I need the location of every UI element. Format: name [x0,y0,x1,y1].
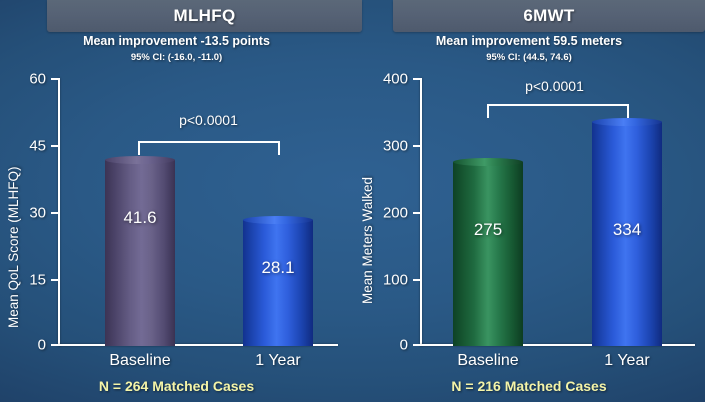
y-tick-6mwt-200 [413,212,420,214]
x-category-label-mlhfq-one-year: 1 Year [223,352,333,370]
p-value-label-6mwt: p<0.0001 [482,78,627,94]
y-tick-6mwt-100 [413,279,420,281]
plot-area-mlhfq: 60 45 30 15 0 Mean QoL Score (MLHFQ) p<0… [58,78,338,346]
slide-canvas: MLHFQ 6MWT Mean improvement -13.5 points… [0,0,705,402]
bar-cap-mlhfq-one-year [243,216,313,224]
y-tick-mlhfq-15 [51,279,58,281]
subtitle-mlhfq: Mean improvement -13.5 points [0,34,353,48]
y-axis-line-6mwt [420,78,422,346]
confidence-interval-6mwt: 95% CI: (44.5, 74.6) [353,52,705,63]
y-tick-label-mlhfq-60: 60 [14,71,46,88]
y-axis-line-mlhfq [58,78,60,346]
bar-fill-mlhfq-one-year [243,220,313,346]
y-tick-6mwt-300 [413,145,420,147]
subtitle-6mwt: Mean improvement 59.5 meters [353,34,705,48]
bar-6mwt-baseline[interactable]: 275 [453,162,523,346]
chart-panel-6mwt: Mean improvement 59.5 meters 95% CI: (44… [353,0,705,402]
chart-panel-mlhfq: Mean improvement -13.5 points 95% CI: (-… [0,0,353,402]
x-category-label-mlhfq-baseline: Baseline [80,352,200,370]
bar-mlhfq-baseline[interactable]: 41.6 [105,160,175,346]
y-tick-6mwt-0 [413,344,420,346]
y-tick-label-6mwt-400: 400 [368,71,408,88]
x-category-label-6mwt-baseline: Baseline [428,352,548,370]
y-tick-label-6mwt-0: 0 [368,337,408,354]
bar-fill-6mwt-baseline [453,162,523,346]
confidence-interval-mlhfq: 95% CI: (-16.0, -11.0) [0,52,353,63]
y-axis-title-6mwt: Mean Meters Walked [360,177,375,304]
y-tick-mlhfq-30 [51,212,58,214]
bar-value-mlhfq-baseline: 41.6 [105,208,175,228]
y-tick-6mwt-400 [413,78,420,80]
bar-cap-mlhfq-baseline [105,156,175,164]
bar-6mwt-one-year[interactable]: 334 [592,122,662,346]
bar-value-6mwt-one-year: 334 [592,220,662,240]
bar-mlhfq-one-year[interactable]: 28.1 [243,220,313,346]
y-tick-label-mlhfq-0: 0 [14,337,46,354]
y-tick-mlhfq-60 [51,78,58,80]
footnote-mlhfq: N = 264 Matched Cases [0,378,353,394]
y-tick-mlhfq-45 [51,145,58,147]
significance-bracket-6mwt [487,104,629,118]
y-tick-label-mlhfq-45: 45 [14,138,46,155]
p-value-label-mlhfq: p<0.0001 [136,112,281,128]
bar-fill-mlhfq-baseline [105,160,175,346]
y-tick-mlhfq-0 [51,344,58,346]
bar-value-mlhfq-one-year: 28.1 [243,258,313,278]
significance-bracket-mlhfq [138,141,280,155]
x-category-label-6mwt-one-year: 1 Year [572,352,682,370]
y-axis-title-mlhfq: Mean QoL Score (MLHFQ) [6,166,21,328]
y-tick-label-6mwt-300: 300 [368,138,408,155]
bar-cap-6mwt-one-year [592,118,662,126]
bar-value-6mwt-baseline: 275 [453,220,523,240]
bar-cap-6mwt-baseline [453,158,523,166]
plot-area-6mwt: 400 300 200 100 0 Mean Meters Walked p<0… [420,78,695,346]
footnote-6mwt: N = 216 Matched Cases [353,378,705,394]
